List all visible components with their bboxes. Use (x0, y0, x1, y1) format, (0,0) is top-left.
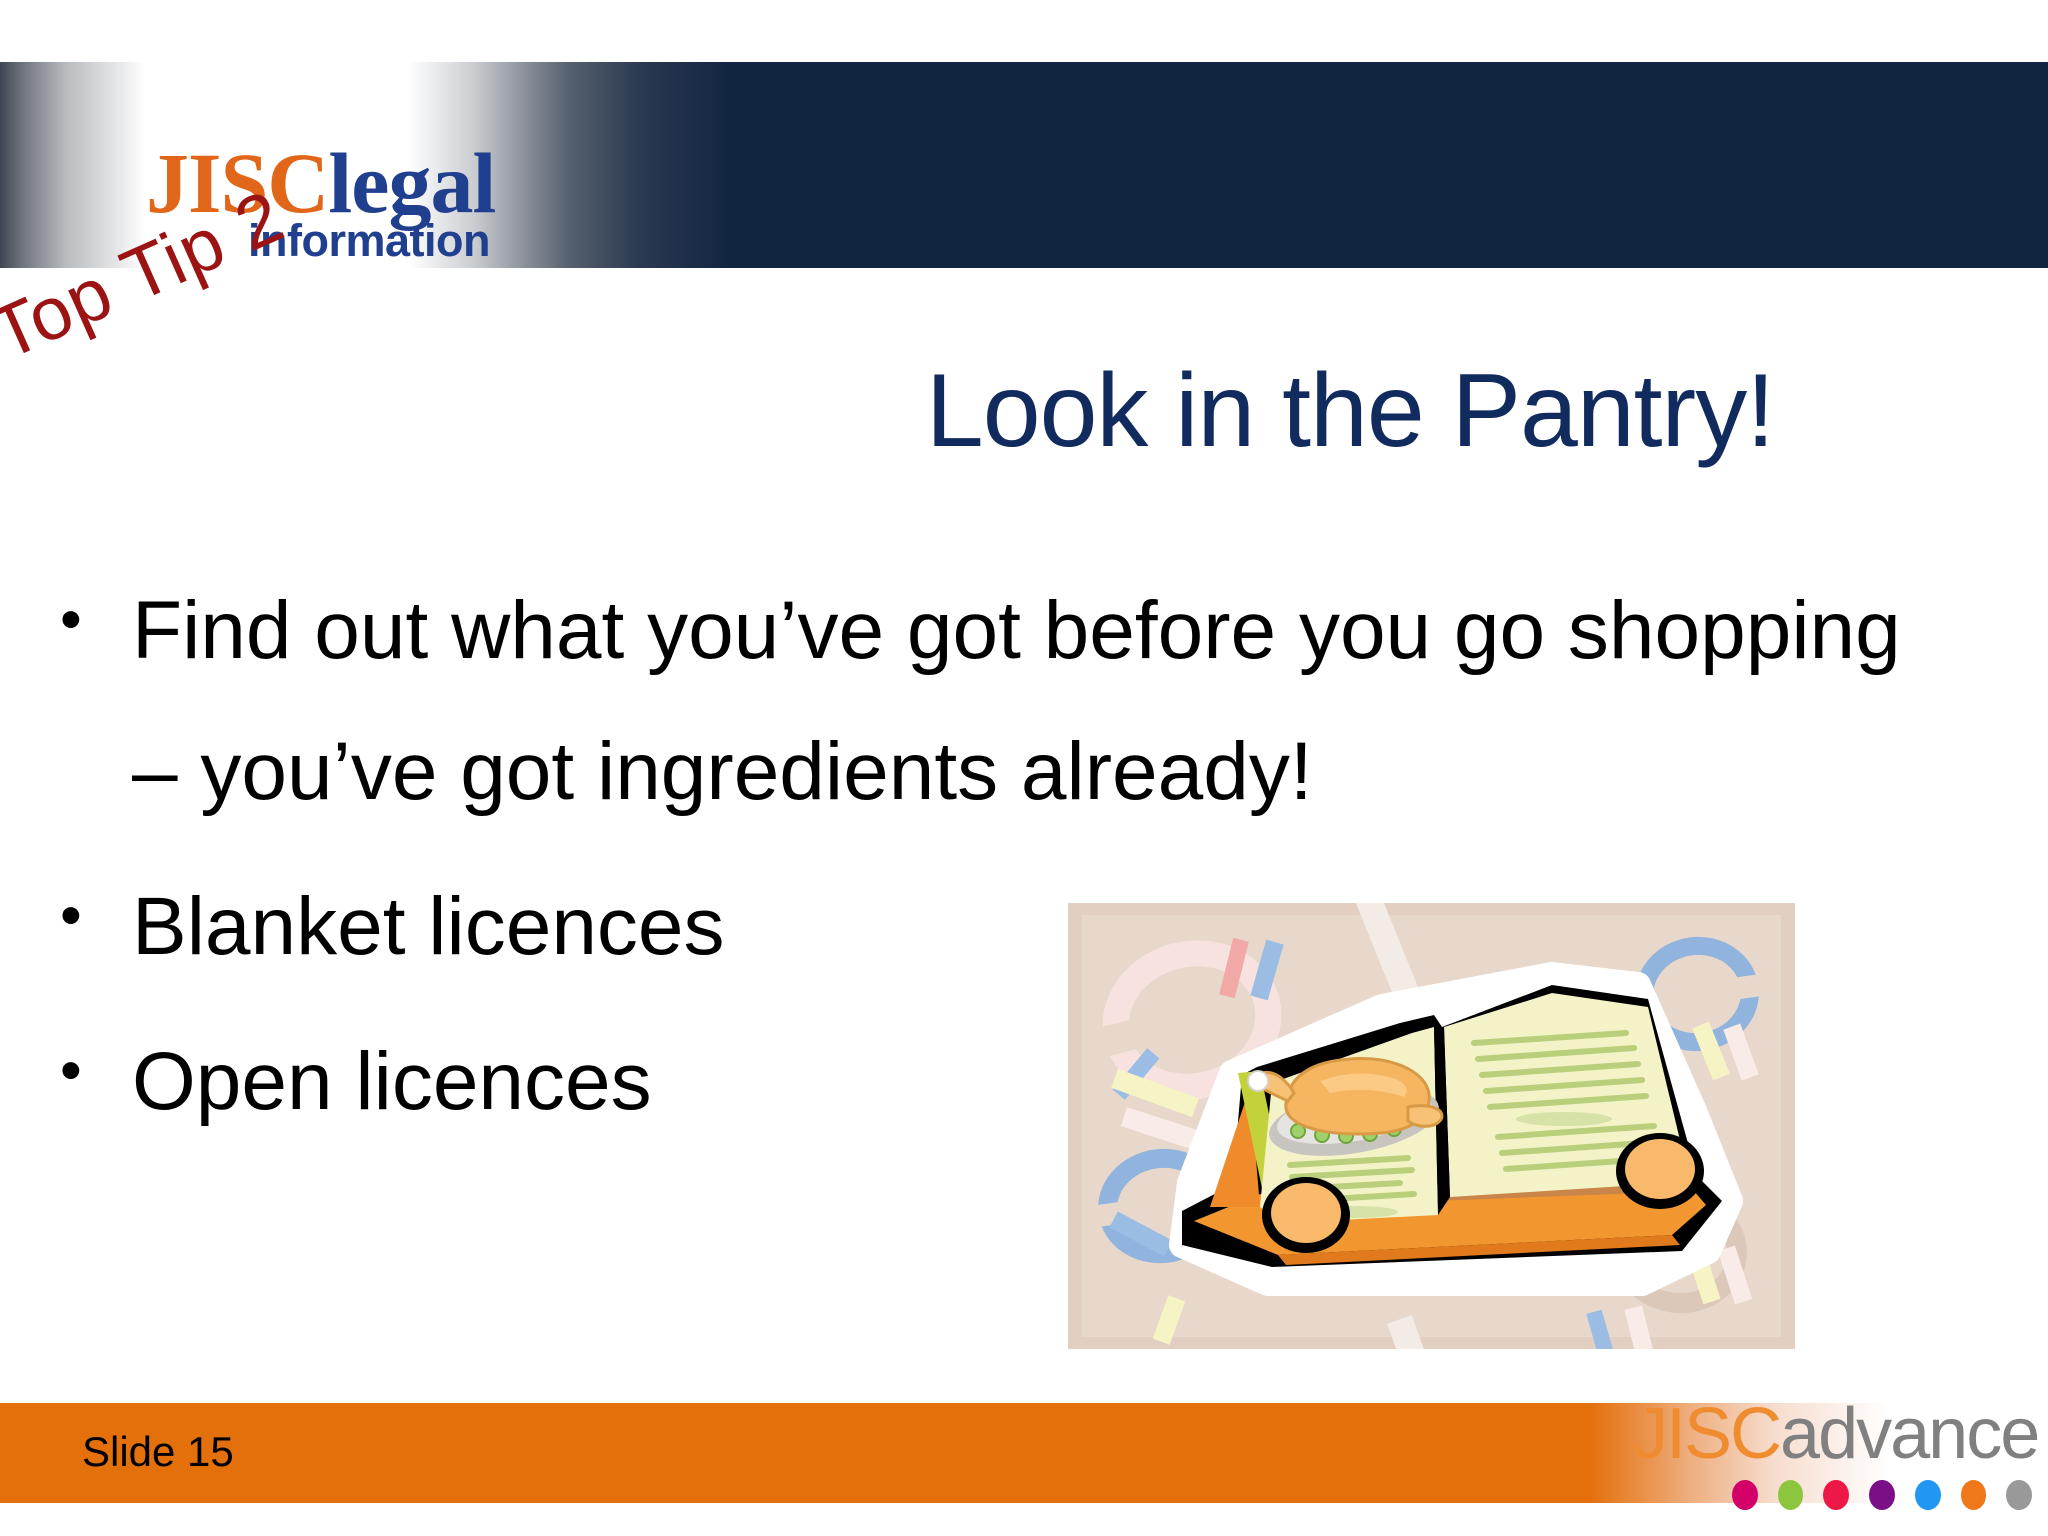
jisc-advance-wordmark: JISCadvance (1632, 1398, 2032, 1470)
jisc-advance-dot-5 (1915, 1480, 1941, 1510)
jisc-advance-advance-text: advance (1780, 1394, 2038, 1474)
list-item-label: Find out what you’ve got before you go s… (132, 560, 1950, 842)
jisc-advance-dot-7 (2006, 1480, 2032, 1510)
cookbook-on-stand-illustration (1082, 915, 1781, 1337)
jisc-advance-logo: JISCadvance (1632, 1398, 2032, 1528)
bullet-point-icon: • (60, 856, 132, 977)
jisc-advance-jisc-text: JISC (1632, 1394, 1780, 1474)
list-item: • Find out what you’ve got before you go… (60, 560, 1950, 842)
bullet-point-icon: • (60, 560, 132, 681)
jisc-advance-dot-6 (1961, 1480, 1987, 1510)
footer-band (0, 1403, 1590, 1503)
header-navy-band (716, 62, 2048, 268)
jisc-advance-dot-2 (1778, 1480, 1804, 1510)
jisc-advance-dot-4 (1869, 1480, 1895, 1510)
slide-canvas: JISClegal information Top Tip 2 Look in … (0, 0, 2048, 1536)
page-title: Look in the Pantry! (700, 352, 2000, 471)
jisc-advance-dot-1 (1732, 1480, 1758, 1510)
jisc-advance-dot-row (1732, 1480, 2032, 1510)
cookbook-clipart-inner-panel (1082, 915, 1781, 1337)
jisc-advance-dot-3 (1823, 1480, 1849, 1510)
bullet-point-icon: • (60, 1011, 132, 1132)
slide-number-label: Slide 15 (82, 1428, 234, 1476)
cookbook-clipart (1068, 903, 1795, 1349)
